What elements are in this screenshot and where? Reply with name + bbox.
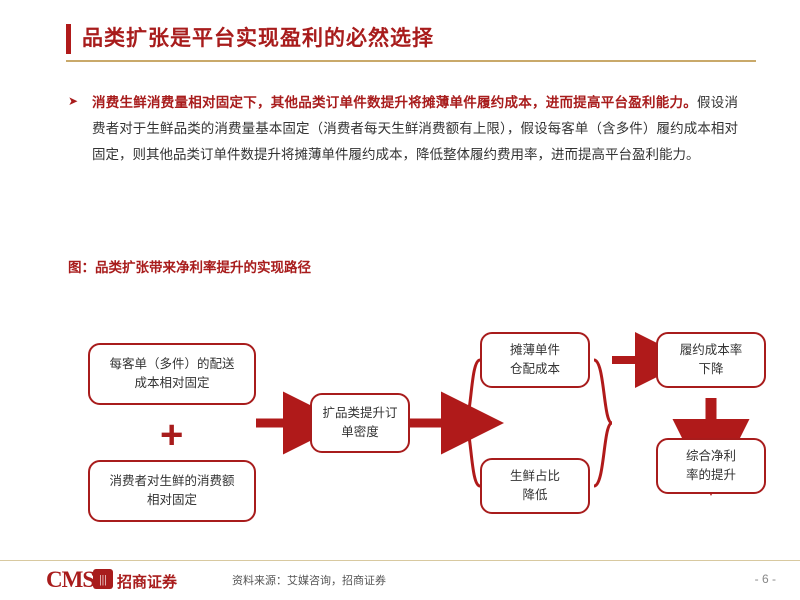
page-number: - 6 -: [755, 572, 776, 586]
figure-caption: 图：品类扩张带来净利率提升的实现路径: [68, 256, 311, 276]
diagram-node-n3: 扩品类提升订 单密度: [310, 393, 410, 453]
diagram-node-n6: 履约成本率 下降: [656, 332, 766, 388]
triangle-right-icon: ➤: [68, 95, 80, 107]
diagram-node-n1: 每客单（多件）的配送 成本相对固定: [88, 343, 256, 405]
bullet-strong-text: 消费生鲜消费量相对固定下，其他品类订单件数提升将摊薄单件履约成本，进而提高平台盈…: [92, 95, 697, 110]
page-title: 品类扩张是平台实现盈利的必然选择: [82, 22, 434, 52]
title-underline: [66, 60, 756, 62]
logo-company-name: 招商证券: [117, 571, 177, 592]
plus-symbol: +: [160, 415, 183, 455]
logo-mark-icon: |||: [93, 569, 113, 589]
flow-diagram: 每客单（多件）的配送 成本相对固定 + 消费者对生鲜的消费额 相对固定 扩品类提…: [60, 320, 760, 550]
diagram-node-n2: 消费者对生鲜的消费额 相对固定: [88, 460, 256, 522]
company-logo: CMS ||| 招商证券: [46, 566, 216, 596]
page-title-row: 品类扩张是平台实现盈利的必然选择: [66, 22, 746, 58]
diagram-node-n4: 摊薄单件 仓配成本: [480, 332, 590, 388]
diagram-node-n7: 综合净利 率的提升: [656, 438, 766, 494]
logo-cms-text: CMS: [46, 567, 94, 593]
title-accent-bar: [66, 24, 71, 54]
bullet-paragraph: 消费生鲜消费量相对固定下，其他品类订单件数提升将摊薄单件履约成本，进而提高平台盈…: [92, 90, 738, 168]
footer-divider: [0, 560, 800, 561]
slide-canvas: 品类扩张是平台实现盈利的必然选择 ➤ 消费生鲜消费量相对固定下，其他品类订单件数…: [0, 0, 800, 600]
source-note: 资料来源：艾媒咨询，招商证券: [232, 572, 386, 588]
diagram-node-n5: 生鲜占比 降低: [480, 458, 590, 514]
